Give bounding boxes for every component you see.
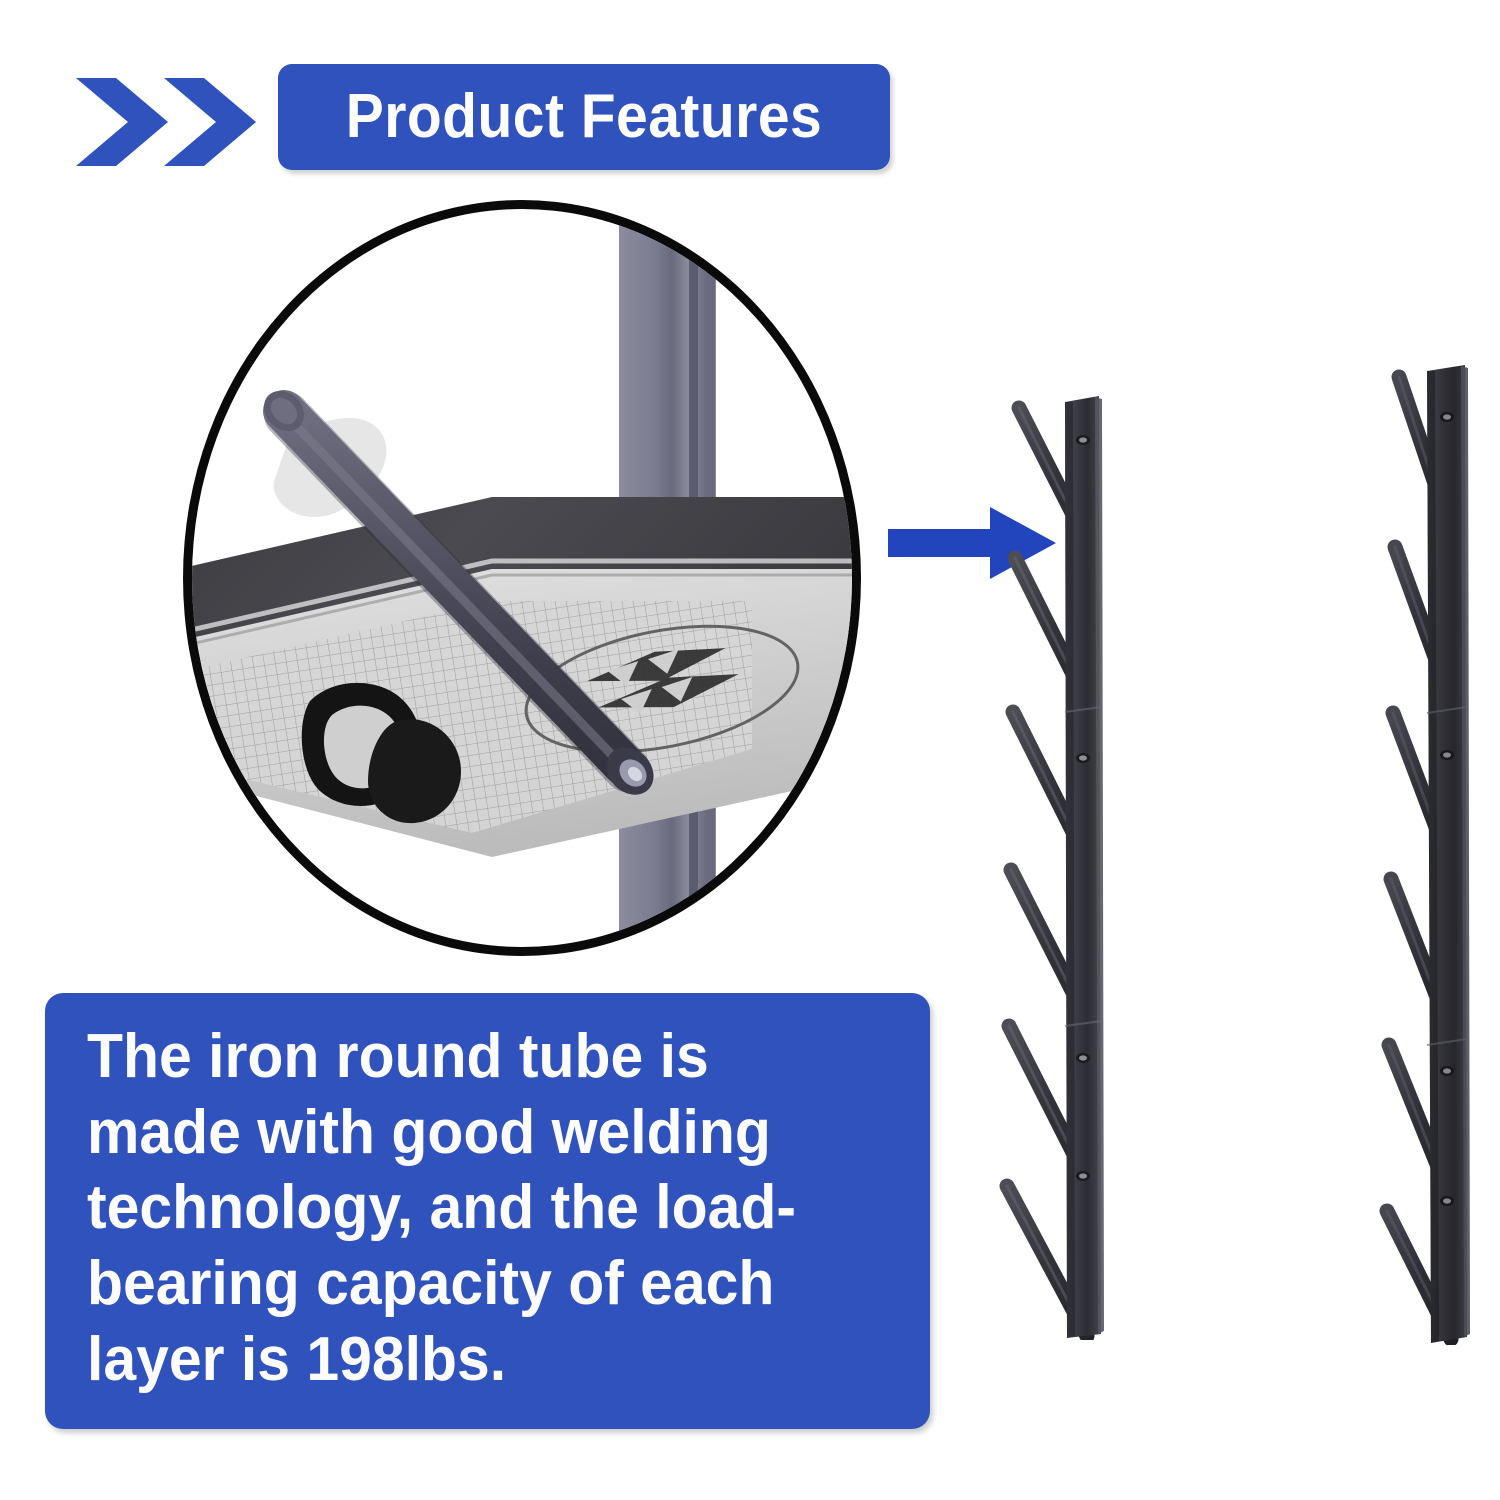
feature-caption-banner: The iron round tube is made with good we…: [45, 993, 930, 1429]
wall-rack-back: [1355, 355, 1500, 1345]
wall-rack-front: [995, 390, 1155, 1340]
feature-caption: The iron round tube is made with good we…: [87, 1019, 856, 1397]
product-closeup-circle: [183, 200, 861, 956]
page-title-banner: Product Features: [278, 64, 890, 170]
double-chevron-right-icon: [72, 72, 262, 172]
page-title: Product Features: [346, 86, 822, 148]
rack-front-rail: [1065, 396, 1104, 1338]
closeup-illustration: [192, 209, 852, 947]
product-feature-infographic: Product Features: [0, 0, 1500, 1500]
